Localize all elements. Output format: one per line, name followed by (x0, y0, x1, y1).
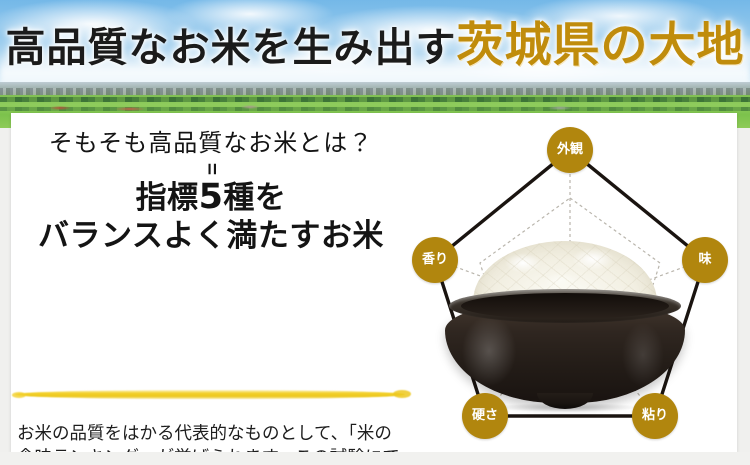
equals-glyph: = (201, 163, 221, 175)
promo-banner: 高品質なお米を生み出す茨城県の大地 そもそも高品質なお米とは？ = 指標5種を … (0, 0, 750, 465)
left-content-column: そもそも高品質なお米とは？ = 指標5種を バランスよく満たすお米 お米の品質を… (11, 120, 411, 450)
headline-indicators: 指標5種を (11, 178, 411, 217)
radar-node-taste[interactable]: 味 (682, 237, 728, 283)
page-title-dark: 高品質なお米を生み出す (6, 24, 457, 71)
hero-header: 高品質なお米を生み出す茨城県の大地 (0, 0, 750, 128)
headline-indicators-number: 5 (199, 177, 224, 217)
farm-houses (0, 104, 750, 112)
yellow-underline-brush (15, 390, 405, 399)
headline-indicators-suffix: 種を (223, 180, 286, 216)
rice-bowl-image (445, 241, 685, 416)
radar-node-stickiness[interactable]: 粘り (632, 393, 678, 439)
equals-symbol: = (11, 158, 411, 178)
bowl-interior (461, 293, 669, 319)
tree-line-far (0, 97, 750, 102)
headline-indicators-prefix: 指標 (136, 180, 199, 216)
radar-node-appearance[interactable]: 外観 (547, 127, 593, 173)
headline-question: そもそも高品質なお米とは？ (11, 120, 411, 158)
radar-node-aroma[interactable]: 香り (412, 237, 458, 283)
page-title: 高品質なお米を生み出す茨城県の大地 (0, 22, 750, 69)
bottom-strip (0, 452, 750, 465)
page-title-gold: 茨城県の大地 (457, 18, 745, 73)
bowl-drop-shadow (493, 403, 641, 412)
radar-diagram: 外観 味 粘り 硬さ 香り (390, 113, 750, 453)
headline-balance: バランスよく満たすお米 (11, 217, 411, 255)
radar-node-hardness[interactable]: 硬さ (462, 393, 508, 439)
